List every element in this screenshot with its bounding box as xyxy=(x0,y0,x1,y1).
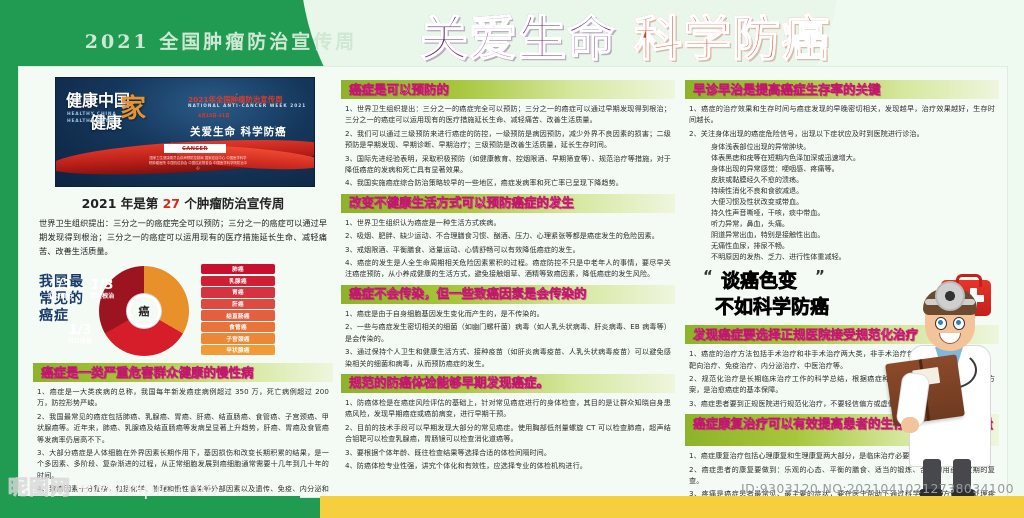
banner-cancer-logo-text: CANCER xyxy=(182,146,208,152)
body-paragraph: 3、戒烟限酒、平衡膳食、适量运动、心情舒畅可以有效降低癌症的发生。 xyxy=(345,244,671,255)
body-paragraph: 2、一些与癌症发生密切相关的细菌（如幽门螺杆菌）病毒（如人乳头状病毒、肝炎病毒、… xyxy=(345,321,671,344)
banner-en-line1: HEALTHY CHINA xyxy=(67,112,117,119)
doctor-pupil-left xyxy=(938,320,943,325)
common-cancer-list: 肺癌乳腺癌胃癌肝癌结直肠癌食管癌子宫颈癌甲状腺癌 xyxy=(201,264,275,357)
body-paragraph: 阴道异常出血，特别是接触性出血。 xyxy=(711,229,995,240)
body-paragraph: 大便习惯及性状改变或带血。 xyxy=(711,196,995,207)
body-paragraph: 2、吸烟、肥胖、缺少运动、不合理膳食习惯、酗酒、压力、心理紧张等都是癌症发生的危… xyxy=(345,230,671,241)
donut-center: 癌 xyxy=(130,297,158,325)
section-title-text: 癌症是可以预防的 xyxy=(349,81,449,99)
cartoon-doctor-illustration xyxy=(895,277,1003,487)
left-lead-paragraph: 世界卫生组织提出：三分之一的癌症完全可以预防；三分之一的癌症可以通过早期发现得到… xyxy=(39,216,327,258)
body-paragraph: 3、国际先进经验表明，采取积极预防（如健康教育、控烟限酒、早期筛查等）、规范治疗… xyxy=(345,153,671,176)
section-title-early-diagnosis-text: 早诊早治是提高癌症生存率的关键 xyxy=(693,81,881,99)
slogan-segment: 防癌 xyxy=(791,296,829,318)
site-watermark: 昵图网 www.nipic.com xyxy=(8,471,218,500)
slogan-segment: 癌 xyxy=(740,270,759,292)
body-paragraph: 听力异常，鼻血，头痛。 xyxy=(711,218,995,229)
banner-right-english: NATIONAL ANTI-CANCER WEEK 2021 xyxy=(188,103,306,108)
body-paragraph: 体表黑痣和疣等在短期内色泽加深或迅速增大。 xyxy=(711,152,995,163)
cancer-list-item-label: 肺癌 xyxy=(232,265,244,273)
page-title: 关爱生命 科学防癌 xyxy=(420,8,1010,70)
image-id-watermark: ID:9303120 NO:20210410212738034100 xyxy=(741,481,1014,496)
cancer-list-item: 乳腺癌 xyxy=(201,276,275,286)
left-lead-suffix: 个肿瘤防治宣传周 xyxy=(180,196,284,211)
banner-en-line2: HEALTHY HOME xyxy=(67,119,117,126)
site-watermark-cn: 昵图网 xyxy=(8,471,71,500)
slogan-line-2: 不如科学防癌 xyxy=(715,292,829,319)
body-paragraph: 不明原因的发热、乏力、进行性体重减轻。 xyxy=(711,251,995,262)
left-column: 健康中国 健康 HEALTHY CHINA HEALTHY HOME 家 202… xyxy=(33,75,333,508)
section-title-chronic-disease-text: 癌症是一类严重危害群众健康的慢性病 xyxy=(41,364,254,382)
body-paragraph: 2、目前的技术手段可以早期发现大部分的常见癌症。使用胸部低剂量螺旋 CT 可以检… xyxy=(345,422,671,445)
body-paragraph: 1、世界卫生组织提出：三分之一的癌症完全可以预防；三分之一的癌症可以通过早期发现… xyxy=(345,103,671,126)
donut-slice-prevent-value: 1/3 xyxy=(43,279,77,293)
banner-cancer-logo: CANCER xyxy=(164,144,226,153)
section-title-bar: 改变不健康生活方式可以预防癌症的发生 xyxy=(341,194,675,213)
cancer-list-item-label: 结直肠癌 xyxy=(226,312,250,320)
footer-band-yellow xyxy=(320,496,1024,518)
body-paragraph: 4、癌症的发生是人全生命周期相关危险因素累积的过程。癌症防控不只是中老年人的事情… xyxy=(345,257,671,280)
donut-slice-improve: 1/3 可以改善 xyxy=(63,324,97,346)
doctor-pupil-right xyxy=(956,320,961,325)
cancer-list-item: 食管癌 xyxy=(201,322,275,332)
content-card: 健康中国 健康 HEALTHY CHINA HEALTHY HOME 家 202… xyxy=(18,66,1008,498)
slogan-segment: 科学 xyxy=(753,296,791,318)
donut-slice-cure-value: 1/3 xyxy=(85,279,119,293)
section-title-text: 改变不健康生活方式可以预防癌症的发生 xyxy=(349,194,574,212)
body-paragraph: 1、癌症的治疗效果和生存时间与癌症发现的早晚密切相关，发现越早，治疗效果越好，生… xyxy=(689,103,995,126)
middle-column: 癌症是可以预防的1、世界卫生组织提出：三分之一的癌症完全可以预防；三分之一的癌症… xyxy=(341,75,675,473)
cancer-list-item: 子宫颈癌 xyxy=(201,333,275,343)
page-title-part2: 科学防癌 xyxy=(634,9,830,69)
body-paragraph: 身体出现的异常感觉：哽咽感、疼痛等。 xyxy=(711,163,995,174)
banner-seal-character: 家 xyxy=(120,88,146,125)
section-title-text: 癌症不会传染，但一些致癌因素是会传染的 xyxy=(349,285,587,303)
cancer-list-item-label: 甲状腺癌 xyxy=(226,346,250,354)
section-title-standard-treatment-text: 发现癌症要选择正规医院接受规范化治疗 xyxy=(693,326,918,344)
slogan-segment: 变 xyxy=(778,270,797,292)
site-watermark-en: www.nipic.com xyxy=(75,478,218,500)
cancer-list-item: 肝癌 xyxy=(201,299,275,309)
donut-slice-prevent-caption: 可以预防 xyxy=(43,293,77,301)
body-paragraph: 3、通过保持个人卫生和健康生活方式、接种疫苗（如肝炎病毒疫苗、人乳头状病毒疫苗）… xyxy=(345,346,671,369)
body-paragraph: 持续性消化不良和食欲减退。 xyxy=(711,185,995,196)
cancer-list-item: 甲状腺癌 xyxy=(201,345,275,355)
donut-slice-cure: 1/3 可以根治 xyxy=(85,279,119,301)
middle-sections: 癌症是可以预防的1、世界卫生组织提出：三分之一的癌症完全可以预防；三分之一的癌症… xyxy=(341,80,675,471)
doctor-hand-left xyxy=(901,417,919,433)
body-paragraph: 4、防癌体检专业性强，讲究个体化和有效性，应选择专业的体检机构进行。 xyxy=(345,460,671,471)
body-paragraph: 1、癌症是由于自身细胞基因发生变化而产生的，是不传染的。 xyxy=(345,308,671,319)
cancer-list-item: 结直肠癌 xyxy=(201,310,275,320)
slogan-segment: 色 xyxy=(759,270,778,292)
quote-open-mark: “ xyxy=(703,267,713,285)
section-title-bar: 癌症是可以预防的 xyxy=(341,80,675,99)
slogan-segment: 不如 xyxy=(715,296,753,318)
donut-slice-prevent: 1/3 可以预防 xyxy=(43,279,77,301)
cancer-list-item-label: 肝癌 xyxy=(232,300,244,308)
body-paragraph: 无痛性血尿，排尿不畅。 xyxy=(711,240,995,251)
banner-organizers: 国家卫生健康委员会疾病预防控制局 国家癌症中心 中国医学科学院肿瘤医院 中国抗癌… xyxy=(148,156,248,171)
left-lead-prefix: 2021 年是第 xyxy=(82,196,163,211)
early-diagnosis-items: 1、癌症的治疗效果和生存时间与癌症发现的早晚密切相关，发现越早，治疗效果越好，生… xyxy=(685,103,999,139)
body-paragraph: 身体浅表部位出现的异常肿块。 xyxy=(711,141,995,152)
body-paragraph: 2、我们可以通过三级预防来进行癌症的防控，一级预防是病因预防，减少外界不良因素的… xyxy=(345,128,671,151)
cancer-list-item: 胃癌 xyxy=(201,287,275,297)
anti-cancer-week-banner-image: 健康中国 健康 HEALTHY CHINA HEALTHY HOME 家 202… xyxy=(55,77,315,187)
one-third-donut-diagram: 我国最常见的癌症 癌 1/3 可以预防 1/3 可以根治 1/3 可以改善 xyxy=(35,264,331,358)
quote-close-mark: ” xyxy=(815,267,825,285)
body-paragraph: 1、世界卫生组织认为癌症是一种生活方式疾病。 xyxy=(345,217,671,228)
banner-right-slogan: 关爱生命 科学防癌 xyxy=(190,124,287,139)
cancer-list-item-label: 胃癌 xyxy=(232,288,244,296)
body-paragraph: 4、我国实施癌症综合防治策略较早的一些地区，癌症发病率和死亡率已呈现下降趋势。 xyxy=(345,177,671,188)
section-title-early-diagnosis: 早诊早治是提高癌症生存率的关键 xyxy=(685,80,999,99)
body-paragraph: 2、关注身体出现的癌症危险信号，出现以下症状应及时到医院进行诊治。 xyxy=(689,128,995,139)
body-paragraph: 皮肤或黏膜经久不愈的溃疡。 xyxy=(711,174,995,185)
body-paragraph: 持久性声音嘶哑，干咳，痰中带血。 xyxy=(711,207,995,218)
page-title-part1: 关爱生命 xyxy=(420,9,616,69)
cancer-warning-symptom-list: 身体浅表部位出现的异常肿块。体表黑痣和疣等在短期内色泽加深或迅速增大。身体出现的… xyxy=(685,141,999,262)
donut-slice-improve-caption: 可以改善 xyxy=(63,338,97,346)
section-title-bar: 规范的防癌体检能够早期发现癌症。 xyxy=(341,374,675,393)
body-paragraph: 2、我国最常见的癌症包括肺癌、乳腺癌、胃癌、肝癌、结直肠癌、食管癌、子宫颈癌、甲… xyxy=(37,411,329,445)
banner-right-date: 4月15日-21日 xyxy=(198,113,230,119)
body-paragraph: 1、防癌体检是在癌症风险评估的基础上，针对常见癌症进行的身体检查，其目的是让群众… xyxy=(345,397,671,420)
section-title-text: 规范的防癌体检能够早期发现癌症。 xyxy=(349,374,549,392)
cancer-list-item: 肺癌 xyxy=(201,264,275,274)
donut-slice-improve-value: 1/3 xyxy=(63,324,97,338)
banner-en-lines: HEALTHY CHINA HEALTHY HOME xyxy=(67,112,117,125)
donut-slice-cure-caption: 可以根治 xyxy=(85,293,119,301)
slogan-segment: 谈 xyxy=(721,270,740,292)
header-left-banner: 2021 全国肿瘤防治宣传周 xyxy=(56,24,386,56)
header-left-banner-text: 2021 全国肿瘤防治宣传周 xyxy=(85,27,358,54)
left-lead-number: 27 xyxy=(163,196,180,211)
cancer-list-item-label: 乳腺癌 xyxy=(229,277,247,285)
poster-root: 2021 全国肿瘤防治宣传周 关爱生命 科学防癌 健康中国 健康 HEALTHY… xyxy=(0,0,1024,518)
section-title-bar: 癌症不会传染，但一些致癌因素是会传染的 xyxy=(341,285,675,304)
body-paragraph: 1、癌症是一大类疾病的总称，我国每年新发癌症病例超过 350 万，死亡病例超过 … xyxy=(37,386,329,409)
donut-center-char: 癌 xyxy=(139,303,150,319)
cancer-list-item-label: 子宫颈癌 xyxy=(226,335,250,343)
body-paragraph: 3、要根据个体年龄、既往检查结果等选择合适的体检间隔时间。 xyxy=(345,447,671,458)
section-title-chronic-disease: 癌症是一类严重危害群众健康的慢性病 xyxy=(33,363,333,382)
slogan-line-1: 谈癌色变 xyxy=(721,266,797,293)
cancer-list-item-label: 食管癌 xyxy=(229,323,247,331)
head-mirror-icon xyxy=(935,281,965,311)
left-lead-heading: 2021 年是第 27 个肿瘤防治宣传周 xyxy=(37,193,329,212)
